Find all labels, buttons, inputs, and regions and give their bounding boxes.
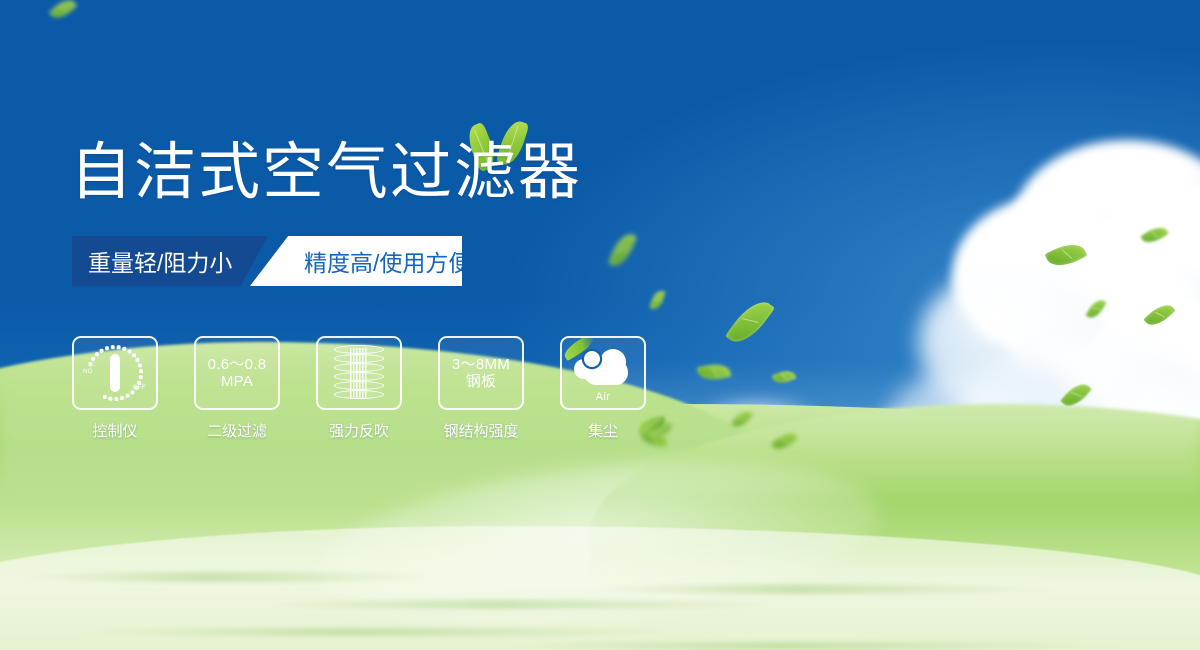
tagline-right-text: 精度高/使用方便 xyxy=(304,244,471,278)
air-cloud-icon: Air xyxy=(570,347,636,399)
filter-stack-icon xyxy=(334,345,384,401)
tagline-left: 重量轻/阻力小 xyxy=(72,236,268,286)
steel-plate-icon: 3～8MM 钢板 xyxy=(452,356,510,391)
pressure-value-icon: 0.6～0.8 MPA xyxy=(208,356,267,391)
air-label: Air xyxy=(570,391,636,403)
steel-line-2: 钢板 xyxy=(452,373,510,390)
gauge-no-label: NO xyxy=(83,369,93,375)
pressure-line-2: MPA xyxy=(208,373,267,390)
page-title: 自洁式空气过滤器 xyxy=(70,141,582,204)
promo-banner: 自洁式空气过滤器 重量轻/阻力小 精度高/使用方便 xyxy=(0,0,1200,650)
tagline-right: 精度高/使用方便 xyxy=(250,236,462,286)
tagline-left-text: 重量轻/阻力小 xyxy=(88,244,232,278)
feature-label: 钢结构强度 xyxy=(438,420,524,441)
feature-label: 集尘 xyxy=(560,420,646,441)
tagline-bar: 重量轻/阻力小 精度高/使用方便 xyxy=(72,236,462,286)
feature-item-blowback[interactable]: 强力反吹 xyxy=(316,336,402,441)
feature-icon-box: Air xyxy=(560,336,646,410)
pressure-line-1: 0.6～0.8 xyxy=(208,356,267,373)
feature-icon-box xyxy=(316,336,402,410)
feature-icon-box: NO OFF xyxy=(72,336,158,410)
feature-icon-box: 0.6～0.8 MPA xyxy=(194,336,280,410)
feature-list: NO OFF 控制仪 0.6～0.8 MPA 二级过滤 xyxy=(72,336,646,441)
gauge-off-label: OFF xyxy=(133,385,146,391)
gauge-dial-icon: NO OFF xyxy=(84,345,146,401)
feature-icon-box: 3～8MM 钢板 xyxy=(438,336,524,410)
feature-label: 控制仪 xyxy=(72,420,158,441)
feature-label: 强力反吹 xyxy=(316,420,402,441)
steel-line-1: 3～8MM xyxy=(452,356,510,373)
feature-item-control[interactable]: NO OFF 控制仪 xyxy=(72,336,158,441)
banner-content: 自洁式空气过滤器 重量轻/阻力小 精度高/使用方便 xyxy=(0,0,1200,650)
feature-label: 二级过滤 xyxy=(194,420,280,441)
feature-item-filtration[interactable]: 0.6～0.8 MPA 二级过滤 xyxy=(194,336,280,441)
feature-item-dust[interactable]: Air 集尘 xyxy=(560,336,646,441)
feature-item-steel[interactable]: 3～8MM 钢板 钢结构强度 xyxy=(438,336,524,441)
